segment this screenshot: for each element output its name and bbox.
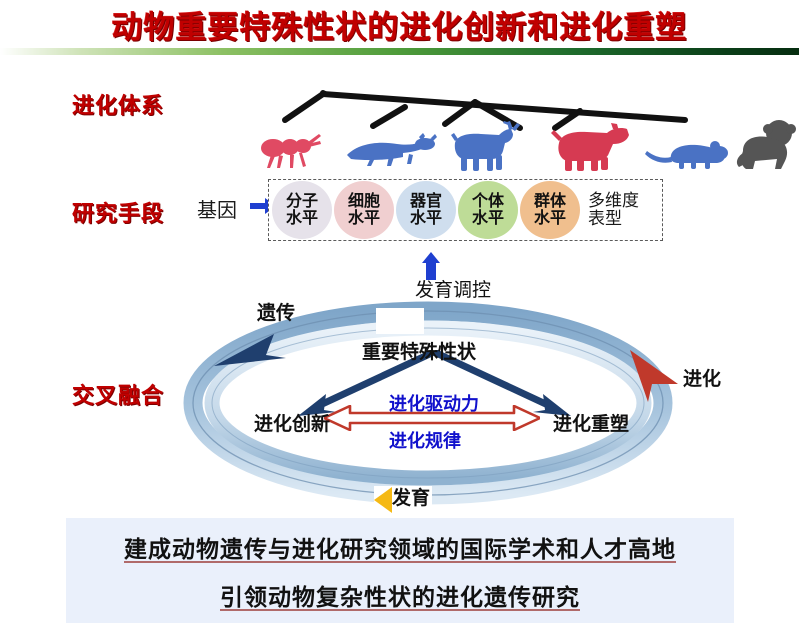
title-divider-rule xyxy=(0,48,799,55)
level-line2: 水平 xyxy=(410,210,442,227)
phylogenetic-tree xyxy=(255,58,785,173)
phenotype-label: 多维度 表型 xyxy=(588,192,639,229)
cycle-label-innovation: 进化创新 xyxy=(254,409,330,436)
cycle-label-driving-force: 进化驱动力 xyxy=(389,390,479,416)
dog-icon xyxy=(551,123,633,171)
row-label-research-methods: 研究手段 xyxy=(72,196,164,228)
cycle-label-key-trait: 重要特殊性状 xyxy=(362,337,476,364)
level-line2: 水平 xyxy=(348,210,380,227)
conclusion-box: 建成动物遗传与进化研究领域的国际学术和人才高地 引领动物复杂性状的进化遗传研究 xyxy=(66,518,734,623)
cycle-label-evolution-law: 进化规律 xyxy=(389,427,461,453)
cycle-label-remodeling: 进化重塑 xyxy=(553,409,629,436)
page-title: 动物重要特殊性状的进化创新和进化重塑 xyxy=(0,2,799,47)
axolotl-icon xyxy=(345,133,437,167)
level-circle-population: 群体 水平 xyxy=(520,181,580,239)
cycle-label-development: 发育 xyxy=(392,483,430,510)
level-circle-organ: 器官 水平 xyxy=(396,181,456,239)
ant-icon xyxy=(257,129,329,169)
phenotype-line2: 表型 xyxy=(588,210,639,228)
conclusion-line-2: 引领动物复杂性状的进化遗传研究 xyxy=(220,578,580,612)
level-line2: 水平 xyxy=(534,210,566,227)
slide-canvas: 动物重要特殊性状的进化创新和进化重塑 进化体系 研究手段 交叉融合 xyxy=(0,0,799,633)
conclusion-line-1: 建成动物遗传与进化研究领域的国际学术和人才高地 xyxy=(124,530,676,564)
cycle-label-evolution: 进化 xyxy=(683,364,721,391)
cycle-label-heredity: 遗传 xyxy=(257,298,295,325)
row-label-evolution-system: 进化体系 xyxy=(72,88,164,120)
level-line2: 水平 xyxy=(286,210,318,227)
levels-row: 分子 水平 细胞 水平 器官 水平 个体 水平 群体 水平 多维度 表型 xyxy=(272,180,639,240)
row-label-cross-fusion: 交叉融合 xyxy=(72,378,164,410)
level-line2: 水平 xyxy=(472,210,504,227)
gene-label: 基因 xyxy=(197,194,237,223)
level-circle-molecular: 分子 水平 xyxy=(272,181,332,239)
phenotype-line1: 多维度 xyxy=(588,192,639,210)
level-circle-individual: 个体 水平 xyxy=(458,181,518,239)
deer-icon xyxy=(451,121,525,171)
monkey-icon xyxy=(735,119,797,171)
rat-icon xyxy=(645,137,731,169)
level-circle-cell: 细胞 水平 xyxy=(334,181,394,239)
